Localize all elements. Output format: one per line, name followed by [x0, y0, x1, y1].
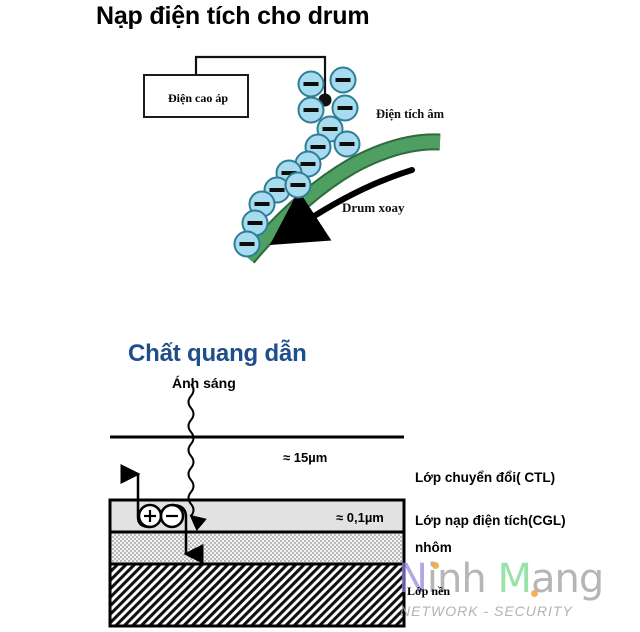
charge-particle — [333, 96, 358, 121]
negative-charge-label: Điện tích âm — [376, 107, 444, 122]
light-ray-wave — [189, 384, 194, 516]
diagram-canvas: Nạp điện tích cho drum — [0, 0, 640, 632]
layer-base — [110, 564, 404, 626]
charge-particle — [299, 72, 324, 97]
negative-charge-group — [235, 68, 360, 257]
layer-aluminium — [110, 532, 404, 564]
drum-charging-diagram — [0, 0, 640, 300]
charge-particle — [331, 68, 356, 93]
charge-particle — [235, 232, 260, 257]
negative-carrier — [161, 505, 183, 527]
charge-particle — [286, 173, 311, 198]
layer-label-cgl: Lớp nạp điện tích(CGL) — [415, 513, 566, 528]
high-voltage-label: Điện cao áp — [145, 76, 251, 120]
charge-particle — [335, 132, 360, 157]
ctl-thickness-label: ≈ 15µm — [283, 450, 327, 465]
layer-label-ctl: Lớp chuyển đổi( CTL) — [415, 470, 555, 485]
cgl-thickness-label: ≈ 0,1µm — [336, 510, 384, 525]
positive-carrier — [139, 505, 161, 527]
high-voltage-box: Điện cao áp — [143, 74, 249, 118]
drum-rotation-label: Drum xoay — [342, 200, 404, 216]
charge-particle — [299, 98, 324, 123]
layer-label-base: Lớp nền — [407, 584, 450, 599]
layer-label-aluminium: nhôm — [415, 540, 452, 555]
